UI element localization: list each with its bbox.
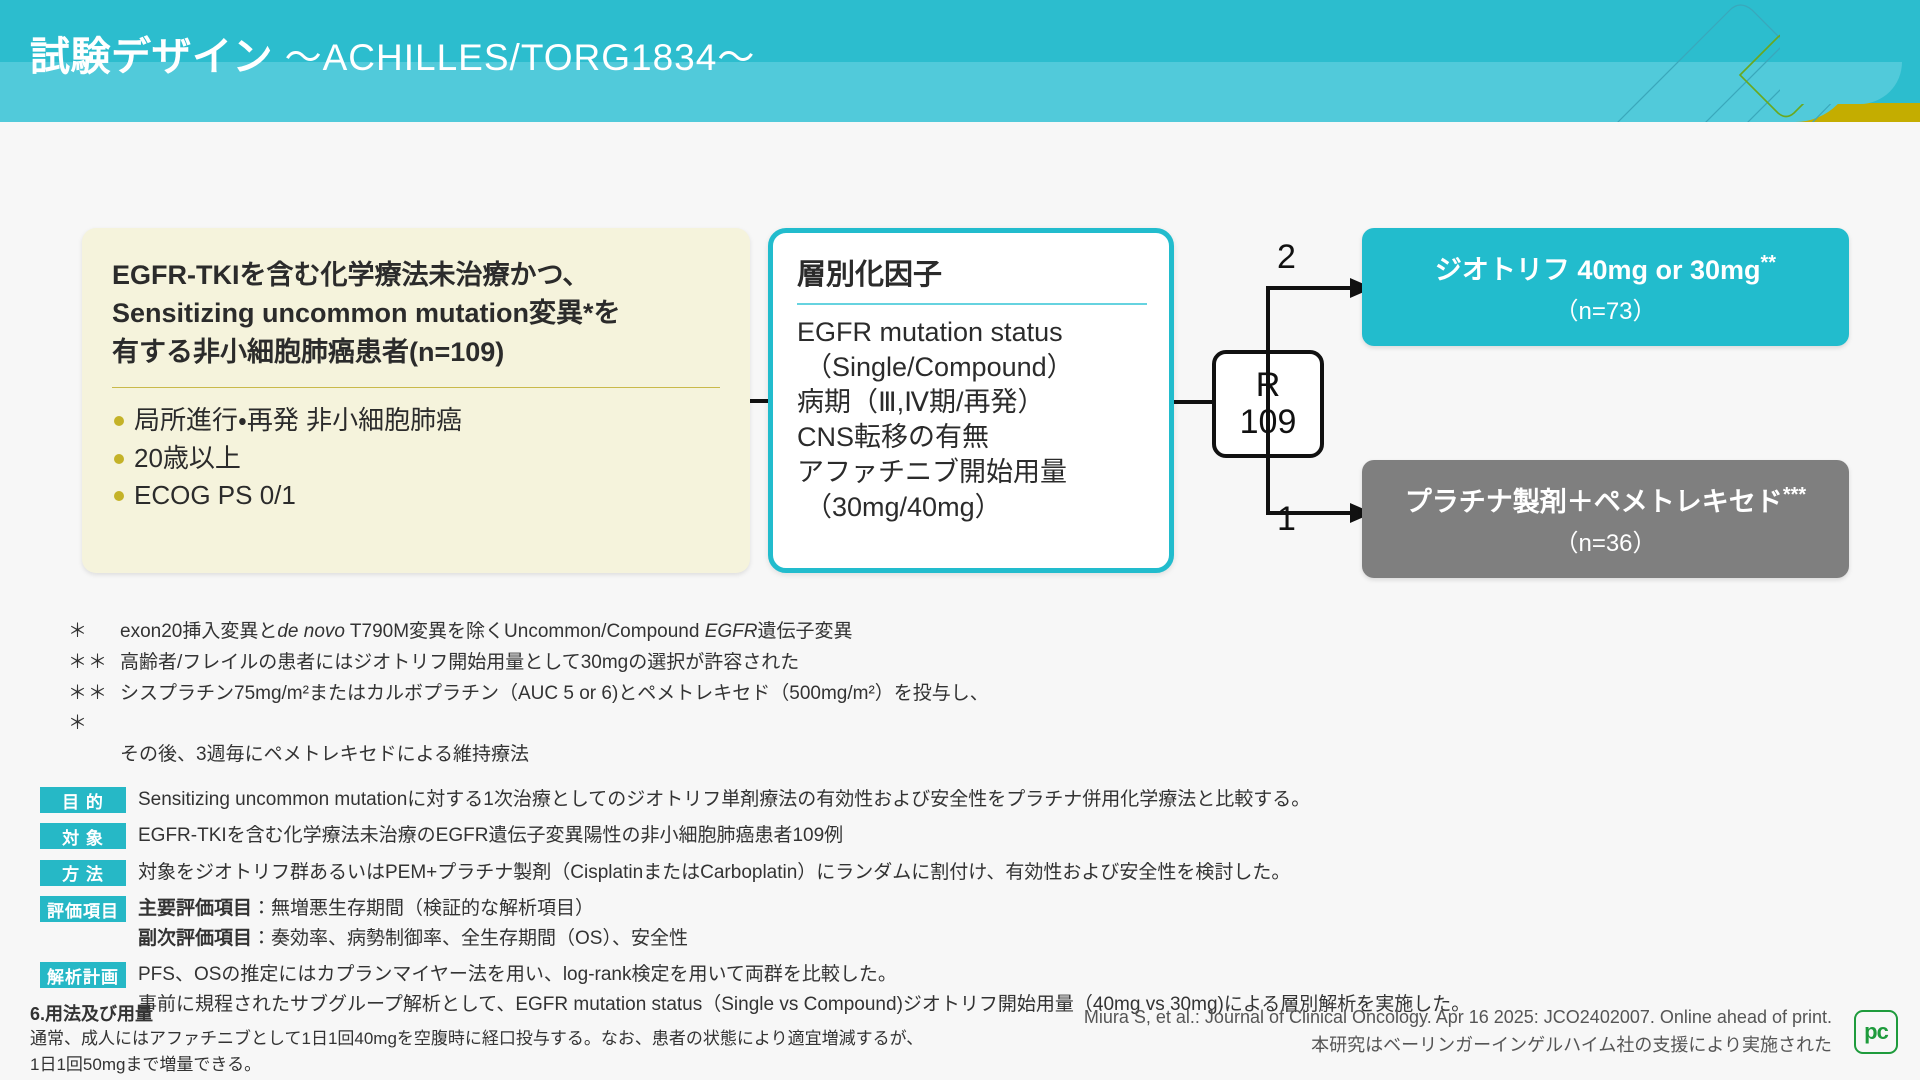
allocation-ratio-bottom: 1 [1277,500,1296,539]
header-corner-mask-lower [1780,62,1902,104]
stratification-item-line: EGFR mutation status [797,317,1063,347]
list-item: ECOG PS 0/1 [112,477,720,515]
stratification-item-line: CNS転移の有無 [797,422,989,452]
footnote-text: 高齢者/フレイルの患者にはジオトリフ開始用量として30mgの選択が許容された [120,648,1368,679]
treatment-arm-afatinib: ジオトリフ 40mg or 30mg** （n=73） [1362,228,1849,346]
arm-name: ジオトリフ 40mg or 30mg [1435,255,1761,285]
stratification-item: CNS転移の有無 [797,420,1147,455]
page-title-main: 試験デザイン [30,35,273,79]
stratification-item-subline: （30mg/40mg） [797,490,1147,525]
summary-body: 対象をジオトリフ群あるいはPEM+プラチナ製剤（CisplatinまたはCarb… [126,858,1290,887]
summary-line-label: 主要評価項目 [138,898,252,919]
summary-row-methods: 方 法 対象をジオトリフ群あるいはPEM+プラチナ製剤（Cisplatinまたは… [40,858,1900,887]
footnote-text: exon20挿入変異とde novo T790M変異を除くUncommon/Co… [120,617,1368,648]
summary-line: EGFR-TKIを含む化学療法未治療のEGFR遺伝子変異陽性の非小細胞肺癌患者1… [138,821,843,850]
summary-row-population: 対 象 EGFR-TKIを含む化学療法未治療のEGFR遺伝子変異陽性の非小細胞肺… [40,821,1900,850]
stratification-title: 層別化因子 [797,251,1147,293]
summary-line: PFS、OSの推定にはカプランマイヤー法を用い、log-rank検定を用いて両群… [138,960,1470,989]
stratification-item: EGFR mutation status （Single/Compound） [797,315,1147,385]
stratification-item-line: アファチニブ開始用量 [797,457,1067,487]
footnote-part: 遺伝子変異 [757,621,852,642]
footnote-mark: ＊ [68,617,120,648]
arm-name: プラチナ製剤＋ペメトレキセド [1405,487,1783,517]
dosage-title: 6.用法及び用量 [30,1000,930,1026]
arm-title: ジオトリフ 40mg or 30mg** [1435,248,1776,287]
summary-line-label: 副次評価項目 [138,928,252,949]
dosage-block: 6.用法及び用量 通常、成人にはアファチニブとして1日1回40mgを空腹時に経口… [30,1000,930,1078]
summary-line: Sensitizing uncommon mutationに対する1次治療として… [138,785,1310,814]
summary-line: 対象をジオトリフ群あるいはPEM+プラチナ製剤（CisplatinまたはCarb… [138,858,1290,887]
citation-line: 本研究はベーリンガーインゲルハイム社の支援により実施された [1084,1032,1832,1060]
summary-line-text: ：無増悪生存期間（検証的な解析項目） [252,898,594,919]
summary-badge: 方 法 [40,860,126,886]
citation: Miura S, et al.: Journal of Clinical Onc… [1084,1004,1832,1060]
summary-body: Sensitizing uncommon mutationに対する1次治療として… [126,785,1310,814]
eligibility-title-line: 有する非小細胞肺癌患者(n=109) [112,333,720,371]
summary-badge: 目 的 [40,787,126,813]
footnote-row: ＊ exon20挿入変異とde novo T790M変異を除くUncommon/… [68,617,1368,648]
eligibility-box: EGFR-TKIを含む化学療法未治療かつ、 Sensitizing uncomm… [82,228,750,573]
summary-row-endpoints: 評価項目 主要評価項目：無増悪生存期間（検証的な解析項目） 副次評価項目：奏効率… [40,894,1900,953]
logo-text: pc [1864,1019,1888,1045]
summary-line-text: ：奏効率、病勢制御率、全生存期間（OS）、安全性 [252,928,688,949]
footnote-part: exon20挿入変異と [120,621,277,642]
page-title-sub: 〜ACHILLES/TORG1834〜 [285,37,756,78]
stratification-item: アファチニブ開始用量 （30mg/40mg） [797,455,1147,525]
footnotes-section: ＊ exon20挿入変異とde novo T790M変異を除くUncommon/… [68,617,1368,771]
footnote-row: ＊＊＊ シスプラチン75mg/m²またはカルボプラチン（AUC 5 or 6)と… [68,679,1368,741]
list-item: 局所進行・再発 非小細胞肺癌 [112,402,720,440]
footnote-text: シスプラチン75mg/m²またはカルボプラチン（AUC 5 or 6)とペメトレ… [120,679,1368,741]
stratification-box: 層別化因子 EGFR mutation status （Single/Compo… [768,228,1174,573]
page-title: 試験デザイン 〜ACHILLES/TORG1834〜 [30,24,755,82]
footnote-mark: ＊＊＊ [68,679,120,741]
summary-badge: 対 象 [40,823,126,849]
connector-strat-to-randomization [1174,400,1214,404]
eligibility-criteria-list: 局所進行・再発 非小細胞肺癌 20歳以上 ECOG PS 0/1 [112,402,720,515]
summary-body: EGFR-TKIを含む化学療法未治療のEGFR遺伝子変異陽性の非小細胞肺癌患者1… [126,821,843,850]
footnote-part-italic: EGFR [705,621,758,642]
stratification-item-subline: （Single/Compound） [797,350,1147,385]
footnote-mark: ＊＊ [68,648,120,679]
dosage-line: 通常、成人にはアファチニブとして1日1回40mgを空腹時に経口投与する。なお、患… [30,1026,930,1052]
summary-section: 目 的 Sensitizing uncommon mutationに対する1次治… [40,785,1900,1026]
treatment-arm-chemotherapy: プラチナ製剤＋ペメトレキセド*** （n=36） [1362,460,1849,578]
arm-title: プラチナ製剤＋ペメトレキセド*** [1405,480,1806,519]
pc-logo-icon: pc [1854,1010,1898,1054]
dosage-line: 1日1回50mgまで増量できる。 [30,1052,930,1078]
summary-row-objective: 目 的 Sensitizing uncommon mutationに対する1次治… [40,785,1900,814]
summary-body: 主要評価項目：無増悪生存期間（検証的な解析項目） 副次評価項目：奏効率、病勢制御… [126,894,688,953]
arm-sample-size: （n=36） [1554,523,1656,558]
eligibility-title-line: Sensitizing uncommon mutation変異*を [112,294,720,332]
eligibility-title: EGFR-TKIを含む化学療法未治療かつ、 Sensitizing uncomm… [112,256,720,371]
stratification-divider [797,303,1147,305]
summary-badge: 解析計画 [40,962,126,988]
eligibility-divider [112,387,720,388]
list-item: 20歳以上 [112,440,720,478]
footnote-part-italic: de novo [277,621,345,642]
arm-footnote-mark: ** [1761,252,1777,274]
arm-sample-size: （n=73） [1554,291,1656,326]
eligibility-title-line: EGFR-TKIを含む化学療法未治療かつ、 [112,256,720,294]
stratification-item: 病期（Ⅲ,Ⅳ期/再発） [797,385,1147,420]
summary-badge: 評価項目 [40,896,126,922]
summary-line: 主要評価項目：無増悪生存期間（検証的な解析項目） [138,894,688,923]
stratification-item-line: 病期（Ⅲ,Ⅳ期/再発） [797,387,1045,417]
allocation-ratio-top: 2 [1277,238,1296,277]
summary-line: 副次評価項目：奏効率、病勢制御率、全生存期間（OS）、安全性 [138,924,688,953]
footnote-row: ＊＊ 高齢者/フレイルの患者にはジオトリフ開始用量として30mgの選択が許容され… [68,648,1368,679]
citation-line: Miura S, et al.: Journal of Clinical Onc… [1084,1004,1832,1032]
footnote-continuation: その後、3週毎にペメトレキセドによる維持療法 [68,740,1368,771]
footnote-part: T790M変異を除くUncommon/Compound [345,621,705,642]
slide-header: 試験デザイン 〜ACHILLES/TORG1834〜 [0,0,1920,122]
arm-footnote-mark: *** [1783,484,1806,506]
